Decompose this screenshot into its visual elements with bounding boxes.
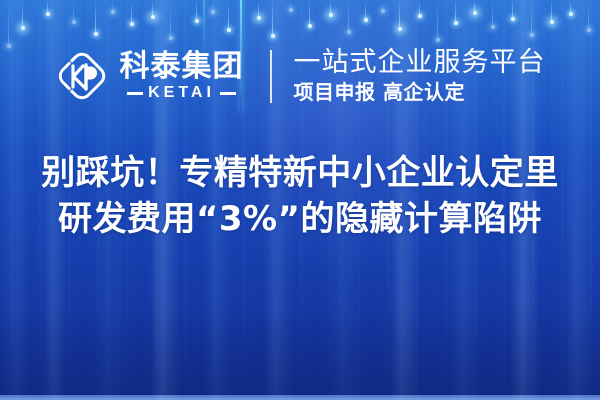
bottom-shadow [0,305,600,395]
headline-line-1: 别踩坑！专精特新中小企业认定里 [0,150,600,196]
headline-block: 别踩坑！专精特新中小企业认定里 研发费用“3%”的隐藏计算陷阱 [0,150,600,242]
tagline-block: 一站式企业服务平台 项目申报 高企认定 [294,48,546,104]
brand-header: 科泰集团 KETAI 一站式企业服务平台 项目申报 高企认定 [0,38,600,114]
wordmark: 科泰集团 KETAI [120,51,244,102]
brand-name-latin: KETAI [148,85,215,101]
bottom-edge-highlight [0,395,600,400]
brand-name-cn: 科泰集团 [120,51,244,83]
vertical-divider [270,50,272,103]
headline-line-2: 研发费用“3%”的隐藏计算陷阱 [0,196,600,242]
tagline-main: 一站式企业服务平台 [294,48,546,78]
ketai-logo-icon [55,49,109,103]
brand-lockup: 科泰集团 KETAI [55,49,244,103]
promo-banner: 科泰集团 KETAI 一站式企业服务平台 项目申报 高企认定 别踩坑！专精特新中… [0,0,600,400]
dash-right-icon [220,92,236,95]
latin-wordmark-row: KETAI [127,85,236,101]
dash-left-icon [127,92,143,95]
tagline-sub: 项目申报 高企认定 [294,81,546,104]
